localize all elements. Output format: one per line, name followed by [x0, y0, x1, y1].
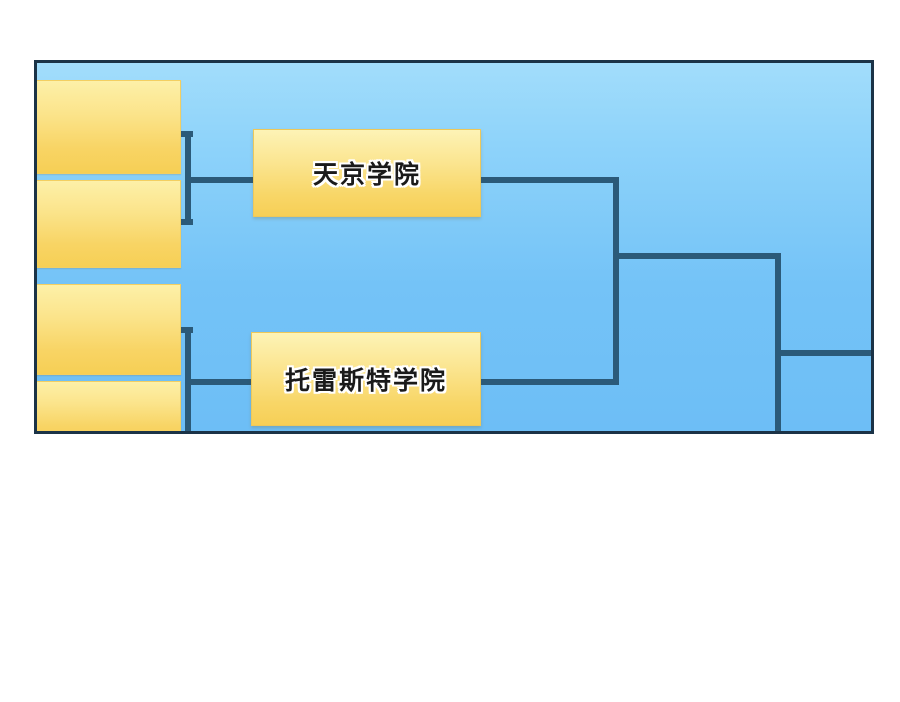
connector-upper-to-team1: [185, 177, 255, 183]
connector-lower-top-stub: [181, 327, 193, 333]
team-box-tenkyo-label: 天京学院: [313, 155, 421, 191]
tournament-bracket-panel: 天京学院 托雷斯特学院: [34, 60, 874, 434]
team-box-tenkyo[interactable]: 天京学院: [253, 129, 481, 217]
seed-box-3[interactable]: [34, 284, 181, 375]
connector-upper-bottom-stub: [181, 219, 193, 225]
bracket-stage: 天京学院 托雷斯特学院: [0, 0, 900, 702]
seed-box-1[interactable]: [34, 80, 181, 174]
connector-r3-out: [613, 253, 781, 259]
connector-r2-top-out: [481, 177, 619, 183]
connector-r4-out: [775, 350, 874, 356]
connector-lower-to-team2: [185, 379, 255, 385]
team-box-torrester-label: 托雷斯特学院: [285, 361, 447, 397]
team-box-torrester[interactable]: 托雷斯特学院: [251, 332, 481, 426]
connector-r3-join-vertical: [775, 253, 781, 434]
seed-box-4[interactable]: [34, 381, 181, 434]
connector-r2-join-vertical: [613, 177, 619, 385]
connector-upper-top-stub: [181, 131, 193, 137]
seed-box-2[interactable]: [34, 180, 181, 268]
bracket-canvas: 天京学院 托雷斯特学院: [37, 63, 871, 431]
connector-r2-bottom-out: [481, 379, 619, 385]
